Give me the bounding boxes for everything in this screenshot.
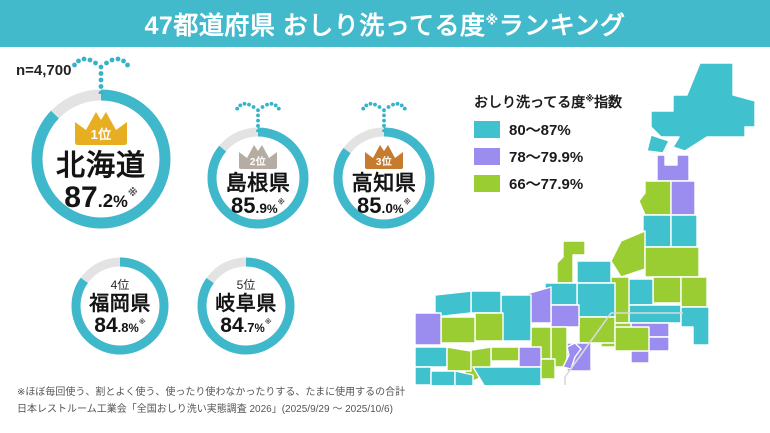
- ranking-card-5: 5位 岐阜県 84.7%※: [194, 254, 298, 358]
- footnotes: ※ほぼ毎回使う、割とよく使う、使ったり使わなかったりする、たまに使用するの合計 …: [17, 385, 405, 418]
- ranking-card-4: 4位 福岡県 84.8%※: [68, 254, 172, 358]
- rank-label-5: 5位: [237, 276, 256, 293]
- map-region-saga: [415, 367, 431, 385]
- percentage-value-1: 87.2%※: [64, 183, 137, 214]
- map-region-okayama: [475, 313, 503, 341]
- percentage-value-4: 84.8%※: [94, 315, 145, 336]
- map-region-gifu: [577, 283, 615, 317]
- map-region-tokushima: [519, 347, 541, 367]
- map-region-toyama: [577, 261, 611, 283]
- legend-item-2: 66〜77.9%: [474, 173, 622, 194]
- page-header: 47都道府県 おしり洗ってる度※ランキング: [0, 0, 770, 47]
- footnote-definition: ※ほぼ毎回使う、割とよく使う、使ったり使わなかったりする、たまに使用するの合計: [17, 385, 405, 402]
- map-region-fukuoka: [415, 347, 447, 367]
- ranking-card-2: 2位 島根県 85.9%※: [204, 124, 312, 232]
- map-region-yamaguchi: [415, 313, 441, 345]
- legend-title-reference-mark: ※: [585, 93, 594, 103]
- page-title-main: 47都道府県 おしり洗ってる度: [145, 12, 486, 40]
- legend-swatch-green: [474, 175, 500, 192]
- map-region-saitama: [629, 305, 681, 323]
- map-region-aichi: [579, 317, 615, 343]
- sample-size-label: n=4,700: [16, 62, 71, 79]
- map-region-ibaraki: [681, 277, 707, 307]
- map-region-tottori: [471, 291, 501, 313]
- map-region-kagawa: [491, 347, 519, 361]
- ranking-card-1: 1位 北海道 87.2%※: [26, 84, 176, 234]
- rank-label-4: 4位: [111, 276, 130, 293]
- footnote-source: 日本レストルーム工業会「全国おしり洗い実態調査 2026」(2025/9/29 …: [17, 402, 405, 419]
- legend-label-0: 80〜87%: [509, 119, 571, 140]
- map-region-tochigi: [653, 277, 681, 303]
- map-region-miyagi: [671, 215, 697, 247]
- map-region-shizuoka: [615, 327, 649, 351]
- legend-label-2: 66〜77.9%: [509, 173, 583, 194]
- page-title: 47都道府県 おしり洗ってる度※ランキング: [145, 6, 626, 42]
- map-region-hiroshima: [441, 317, 475, 343]
- percentage-value-5: 84.7%※: [220, 315, 271, 336]
- percentage-value-2: 85.9%※: [231, 195, 285, 217]
- map-region-aomori: [657, 155, 689, 181]
- page-title-tail: ランキング: [499, 12, 626, 40]
- map-region-shiga: [551, 305, 579, 327]
- legend-title-main: おしり洗ってる度: [474, 94, 585, 110]
- map-legend: おしり洗ってる度※指数 80〜87% 78〜79.9% 66〜77.9%: [474, 92, 622, 200]
- page-title-reference-mark: ※: [486, 12, 499, 27]
- prefecture-name-1: 北海道: [56, 152, 146, 182]
- legend-swatch-purple: [474, 148, 500, 165]
- prefecture-name-4: 福岡県: [89, 294, 151, 314]
- map-region-niigata: [611, 231, 645, 277]
- map-region-iwate: [671, 181, 695, 215]
- legend-title-tail: 指数: [594, 94, 622, 110]
- map-region-kochi: [473, 367, 541, 385]
- map-region-hyogo: [501, 295, 531, 341]
- legend-swatch-teal: [474, 121, 500, 138]
- map-region-yamagata: [643, 215, 671, 247]
- prefecture-name-3: 高知県: [352, 173, 417, 194]
- prefecture-name-5: 岐阜県: [215, 294, 277, 314]
- map-region-hokkaido: [651, 63, 755, 151]
- prefecture-name-2: 島根県: [226, 173, 291, 194]
- legend-item-1: 78〜79.9%: [474, 146, 622, 167]
- map-region-akita: [639, 181, 671, 215]
- map-region-oita: [447, 347, 471, 371]
- percentage-value-3: 85.0%※: [357, 195, 411, 217]
- map-region-kumamoto: [431, 371, 455, 385]
- infographic-page: 47都道府県 おしり洗ってる度※ランキング n=4,700: [0, 0, 770, 433]
- map-region-fukushima: [645, 247, 699, 277]
- legend-label-1: 78〜79.9%: [509, 146, 583, 167]
- legend-item-0: 80〜87%: [474, 119, 622, 140]
- map-region-chiba: [681, 307, 709, 345]
- legend-title: おしり洗ってる度※指数: [474, 92, 622, 112]
